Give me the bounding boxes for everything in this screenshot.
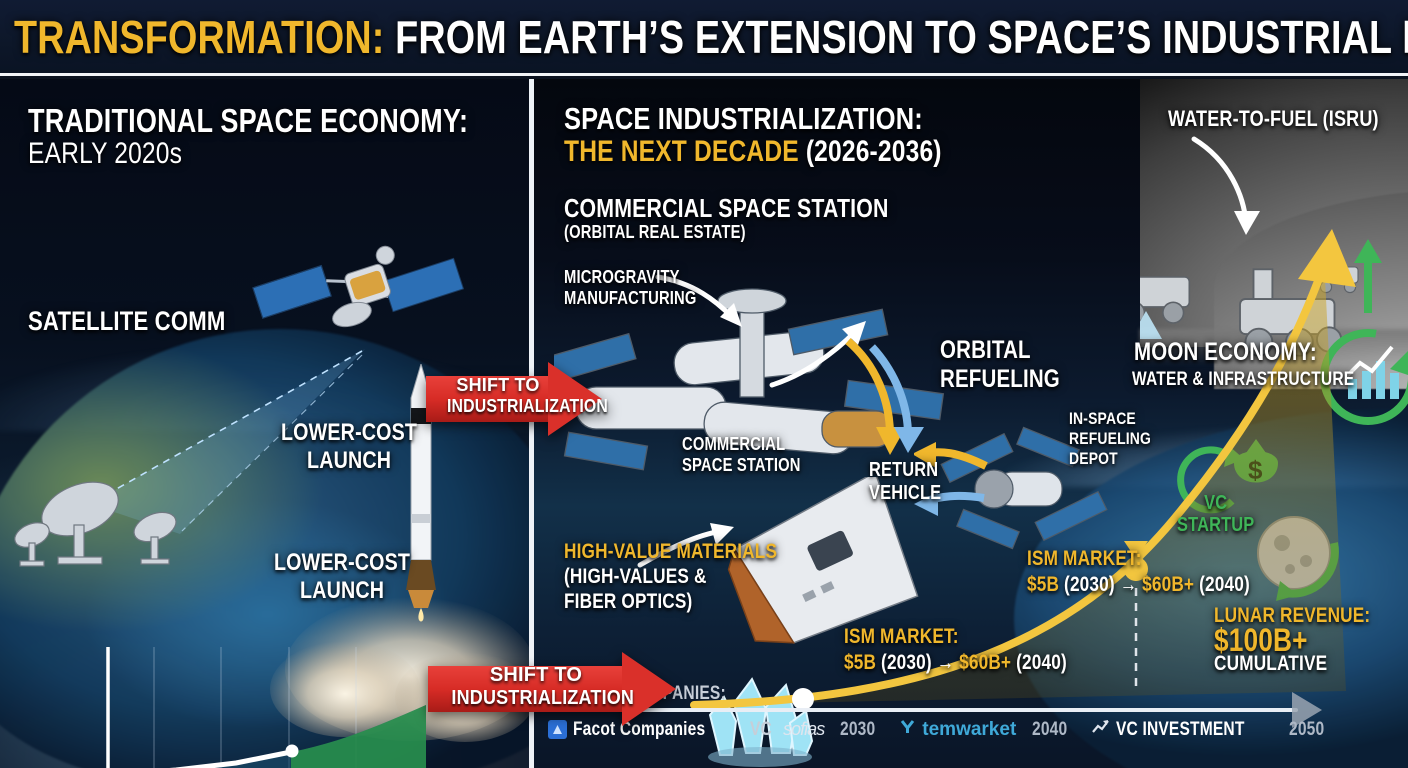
label-orbital-refueling: ORBITAL REFUELING [940, 336, 1060, 394]
label-water-to-fuel: WATER-TO-FUEL (ISRU) [1168, 106, 1379, 132]
infographic-root: TRANSFORMATION: FROM EARTH’S EXTENSION T… [0, 0, 1408, 768]
page-title: TRANSFORMATION: FROM EARTH’S EXTENSION T… [14, 13, 1408, 61]
ism-title: ISM MARKET: [1027, 546, 1250, 572]
right-heading: SPACE INDUSTRIALIZATION: [564, 101, 923, 137]
label-microgravity-manufacturing: MICROGRAVITY MANUFACTURING [564, 267, 697, 309]
label-lower-cost-launch-1: LOWER-COST LAUNCH [281, 419, 417, 475]
ism-arrow: → [1120, 573, 1137, 596]
shift-arrow-top: SHIFT TO INDUSTRIALIZATION [426, 362, 602, 436]
high-value-title: HIGH-VALUE MATERIALS [564, 539, 777, 564]
arrow-label: SHIFT TO INDUSTRIALIZATION [440, 375, 556, 417]
ism-to-year: (2040) [1199, 573, 1250, 596]
title-main: FROM EARTH’S EXTENSION TO SPACE’S INDUST… [395, 11, 1408, 63]
ism-from-year: (2030) [881, 651, 932, 674]
label-refueling-depot: IN-SPACE REFUELING DEPOT [1069, 409, 1151, 469]
right-subheading-accent: THE NEXT DECADE [564, 135, 799, 168]
ism-to-value: $60B+ [1142, 573, 1194, 596]
station-subtitle: (ORBITAL REAL ESTATE) [564, 222, 746, 243]
list-item[interactable]: VC INVESTMENT [1091, 718, 1273, 741]
list-item-label: VC INVESTMENT [1116, 719, 1245, 741]
ground-station-dishes [10, 469, 240, 589]
ism-from-value: $5B [844, 651, 876, 674]
ism-values: $5B (2030) → $60B+ (2040) [844, 650, 1067, 676]
left-subheading: EARLY 2020s [28, 137, 182, 171]
shift-arrow-bottom: SHIFT TO INDUSTRIALIZATION [428, 652, 676, 726]
ism-title: ISM MARKET: [844, 624, 1067, 650]
right-subheading: THE NEXT DECADE (2026-2036) [564, 135, 942, 169]
arrow-label-line2: INDUSTRIALIZATION [447, 396, 549, 417]
left-heading: TRADITIONAL SPACE ECONOMY: [28, 102, 468, 140]
ism-market-callout-2: ISM MARKET: $5B (2030) → $60B+ (2040) [1027, 546, 1250, 598]
label-moon-economy-sub: WATER & INFRASTRUCTURE [1132, 369, 1354, 391]
list-item[interactable]: temwarket [899, 718, 1016, 741]
ism-arrow: → [937, 651, 954, 674]
list-item-label: VC [750, 719, 772, 741]
station-title: COMMERCIAL SPACE STATION [564, 193, 889, 224]
trend-up-icon [1091, 718, 1110, 741]
label-high-value-materials: HIGH-VALUE MATERIALS (HIGH-VALUES & FIBE… [564, 539, 777, 614]
timeline-year: 2040 [1032, 719, 1067, 741]
high-value-sub: (HIGH-VALUES & FIBER OPTICS) [564, 564, 777, 614]
ism-from-year: (2030) [1064, 573, 1115, 596]
timeline-year: 2050 [1289, 719, 1324, 741]
ism-to-year: (2040) [1016, 651, 1067, 674]
label-lower-cost-launch-2: LOWER-COST LAUNCH [274, 549, 410, 605]
lunar-revenue-note: CUMULATIVE [1214, 652, 1370, 676]
right-subheading-years: (2026-2036) [806, 135, 942, 168]
callout-commercial-space-station: COMMERCIAL SPACE STATION [682, 434, 801, 476]
traditional-growth-chart [86, 639, 476, 768]
label-satellite-comm: SATELLITE COMM [28, 306, 225, 337]
label-moon-economy: MOON ECONOMY: [1134, 338, 1317, 367]
label-return-vehicle: RETURN VEHICLE [869, 459, 941, 505]
title-accent: TRANSFORMATION: [14, 11, 385, 63]
ism-market-callout-1: ISM MARKET: $5B (2030) → $60B+ (2040) [844, 624, 1067, 676]
arrow-label-line2: INDUSTRIALIZATION [451, 687, 620, 710]
timeline-year: 2030 [840, 719, 875, 741]
ism-values: $5B (2030) → $60B+ (2040) [1027, 572, 1250, 598]
lunar-revenue-value: $100B+ [1214, 628, 1370, 652]
y-check-icon [899, 718, 916, 741]
list-item[interactable]: VC sofias [750, 719, 824, 741]
ism-from-value: $5B [1027, 573, 1059, 596]
label-vc-startup: VC STARTUP [1177, 492, 1254, 536]
arrow-label: SHIFT TO INDUSTRIALIZATION [442, 664, 630, 710]
list-item-label: temwarket [922, 719, 1016, 741]
ism-to-value: $60B+ [959, 651, 1011, 674]
label-lunar-revenue: LUNAR REVENUE: $100B+ CUMULATIVE [1214, 604, 1370, 676]
title-bar: TRANSFORMATION: FROM EARTH’S EXTENSION T… [0, 0, 1408, 76]
vc-scribble-icon: sofias [783, 719, 824, 740]
arrow-label-line1: SHIFT TO [440, 375, 556, 396]
arrow-label-line1: SHIFT TO [442, 664, 630, 687]
